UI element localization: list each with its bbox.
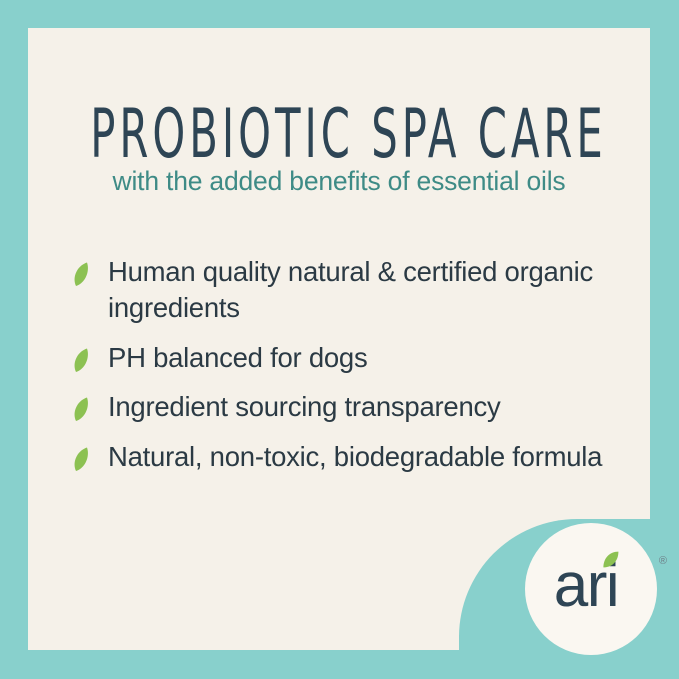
leaf-icon — [72, 261, 89, 287]
leaf-icon — [72, 446, 89, 472]
list-item-label: Human quality natural & certified organi… — [108, 254, 632, 326]
leaf-icon — [72, 347, 89, 373]
list-item: Human quality natural & certified organi… — [72, 254, 632, 326]
list-item-label: Natural, non-toxic, biodegradable formul… — [108, 439, 602, 475]
leaf-icon — [72, 396, 89, 422]
list-item: Ingredient sourcing transparency — [72, 389, 632, 425]
page-title: PROBIOTIC SPA CARE — [90, 28, 588, 167]
registered-trademark-symbol: ® — [659, 556, 667, 567]
logo-wordmark: ari — [554, 555, 618, 617]
list-item: Natural, non-toxic, biodegradable formul… — [72, 439, 632, 475]
list-item: PH balanced for dogs — [72, 340, 632, 376]
leaf-icon — [601, 550, 620, 569]
list-item-label: PH balanced for dogs — [108, 340, 367, 376]
heading-block: PROBIOTIC SPA CARE with the added benefi… — [28, 28, 650, 195]
list-item-label: Ingredient sourcing transparency — [108, 389, 501, 425]
poster-root: PROBIOTIC SPA CARE with the added benefi… — [0, 0, 679, 679]
benefit-list: Human quality natural & certified organi… — [72, 254, 632, 489]
ari-logo[interactable]: ari — [525, 523, 657, 655]
